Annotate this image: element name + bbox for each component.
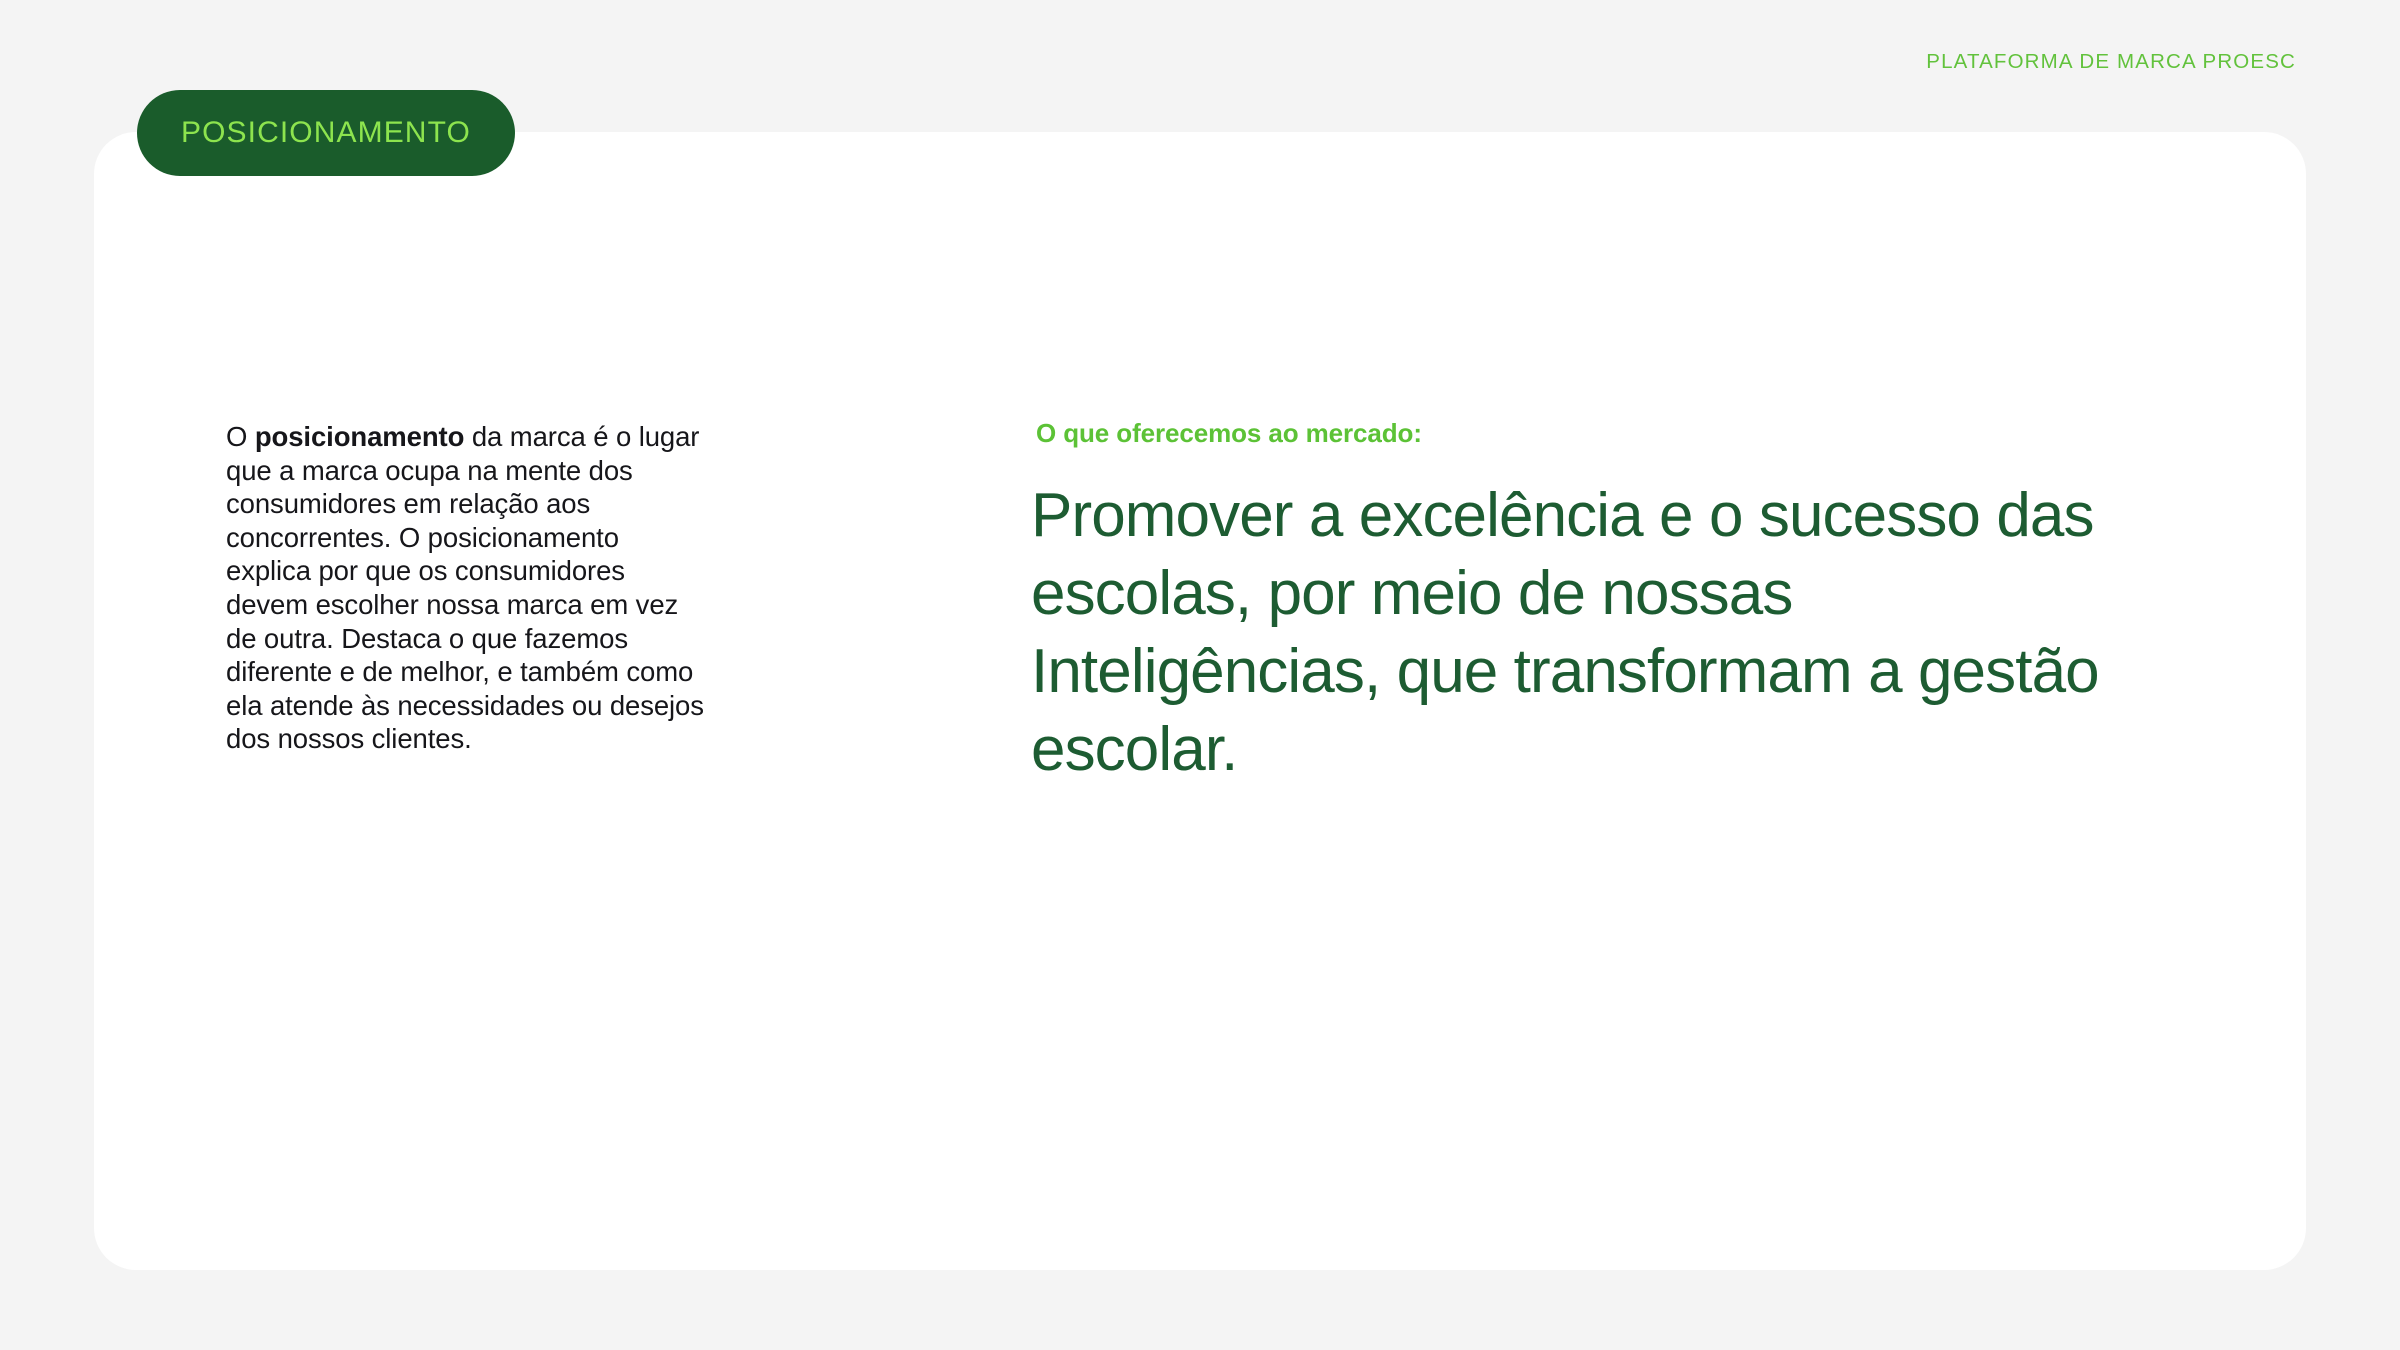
positioning-definition-paragraph: O posicionamento da marca é o lugar que …	[226, 420, 710, 756]
statement-column: O que oferecemos ao mercado: Promover a …	[1031, 418, 2101, 789]
paragraph-lead: O	[226, 421, 255, 452]
brand-platform-eyebrow: PLATAFORMA DE MARCA PROESC	[1926, 50, 2296, 74]
section-badge: POSICIONAMENTO	[137, 90, 515, 176]
offering-subhead: O que oferecemos ao mercado:	[1031, 418, 2101, 449]
paragraph-rest: da marca é o lugar que a marca ocupa na …	[226, 421, 704, 754]
section-badge-label: POSICIONAMENTO	[181, 116, 471, 150]
positioning-statement-headline: Promover a excelência e o sucesso das es…	[1031, 477, 2101, 789]
definition-column: O posicionamento da marca é o lugar que …	[226, 420, 710, 756]
paragraph-bold-term: posicionamento	[255, 421, 464, 452]
